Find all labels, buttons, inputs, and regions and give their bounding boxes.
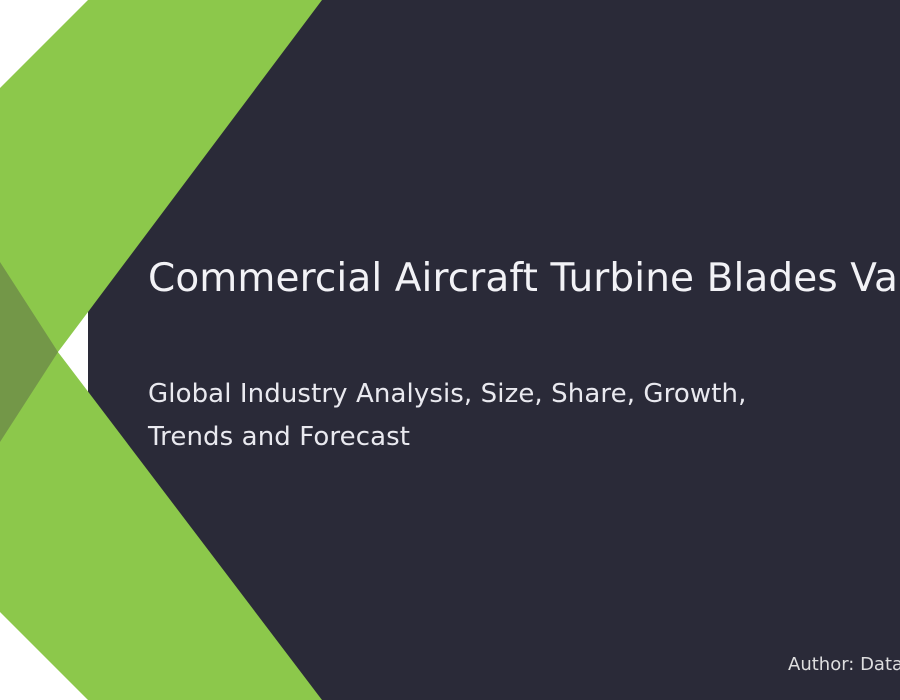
chevron-graphic <box>0 0 900 700</box>
title-slide: Commercial Aircraft Turbine Blades Vanes… <box>0 0 900 700</box>
